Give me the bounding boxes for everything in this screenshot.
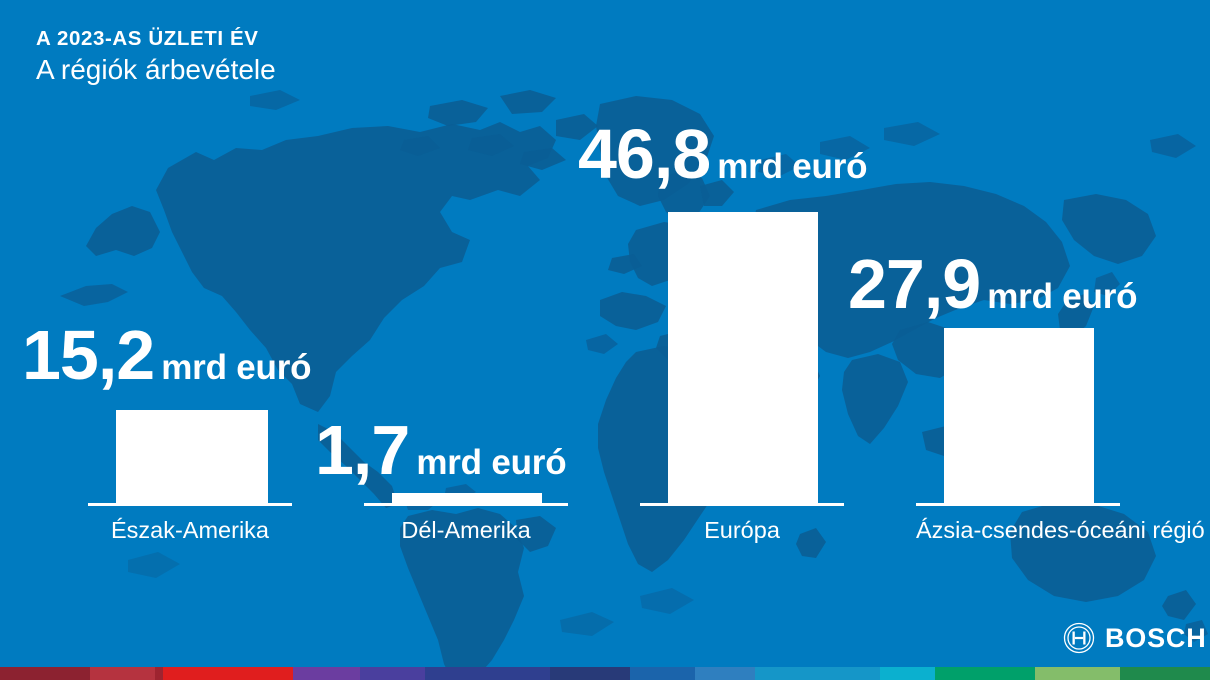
stripe-segment-8 [630, 667, 695, 680]
axis-line-eszak-amerika [88, 503, 292, 506]
category-label-del-amerika: Dél-Amerika [364, 519, 568, 543]
stripe-segment-11 [880, 667, 935, 680]
bar-europa [668, 212, 818, 503]
stripe-segment-4 [293, 667, 360, 680]
stripe-segment-0 [0, 667, 90, 680]
axis-line-azsia-csendes-oceani [916, 503, 1120, 506]
category-label-europa: Európa [640, 519, 844, 543]
stripe-segment-9 [695, 667, 755, 680]
axis-line-del-amerika [364, 503, 568, 506]
value-number: 1,7 [315, 411, 409, 489]
stripe-segment-13 [1035, 667, 1120, 680]
value-number: 27,9 [848, 245, 980, 323]
bosch-logo: BOSCH [1063, 622, 1207, 654]
bosch-armature-icon [1063, 622, 1095, 654]
value-label-europa: 46,8mrd euró [578, 119, 867, 189]
value-unit: mrd euró [987, 277, 1137, 316]
stripe-segment-7 [550, 667, 630, 680]
stripe-segment-14 [1120, 667, 1210, 680]
bar-azsia-csendes-oceani [944, 328, 1094, 503]
value-label-azsia-csendes-oceani: 27,9mrd euró [848, 249, 1137, 319]
value-label-del-amerika: 1,7mrd euró [315, 415, 566, 485]
value-number: 15,2 [22, 316, 154, 394]
stripe-segment-6 [425, 667, 550, 680]
stripe-segment-3 [163, 667, 293, 680]
infographic-root: A 2023-AS ÜZLETI ÉV A régiók árbevétele … [0, 0, 1210, 680]
stripe-segment-2 [155, 667, 163, 680]
bar-eszak-amerika [116, 410, 268, 503]
stripe-segment-10 [755, 667, 880, 680]
value-unit: mrd euró [717, 147, 867, 186]
value-unit: mrd euró [161, 348, 311, 387]
bosch-supergraphic-stripe [0, 667, 1210, 680]
category-label-eszak-amerika: Észak-Amerika [88, 519, 292, 543]
stripe-segment-5 [360, 667, 425, 680]
bar-chart: 15,2mrd euró Észak-Amerika 1,7mrd euró D… [0, 0, 1210, 680]
bar-del-amerika [392, 493, 542, 503]
axis-line-europa [640, 503, 844, 506]
bosch-wordmark: BOSCH [1105, 625, 1207, 652]
value-unit: mrd euró [416, 443, 566, 482]
value-label-eszak-amerika: 15,2mrd euró [22, 320, 311, 390]
category-label-azsia-csendes-oceani: Ázsia-csendes-óceáni régió [916, 519, 1120, 543]
value-number: 46,8 [578, 115, 710, 193]
stripe-segment-12 [935, 667, 1035, 680]
stripe-segment-1 [90, 667, 155, 680]
